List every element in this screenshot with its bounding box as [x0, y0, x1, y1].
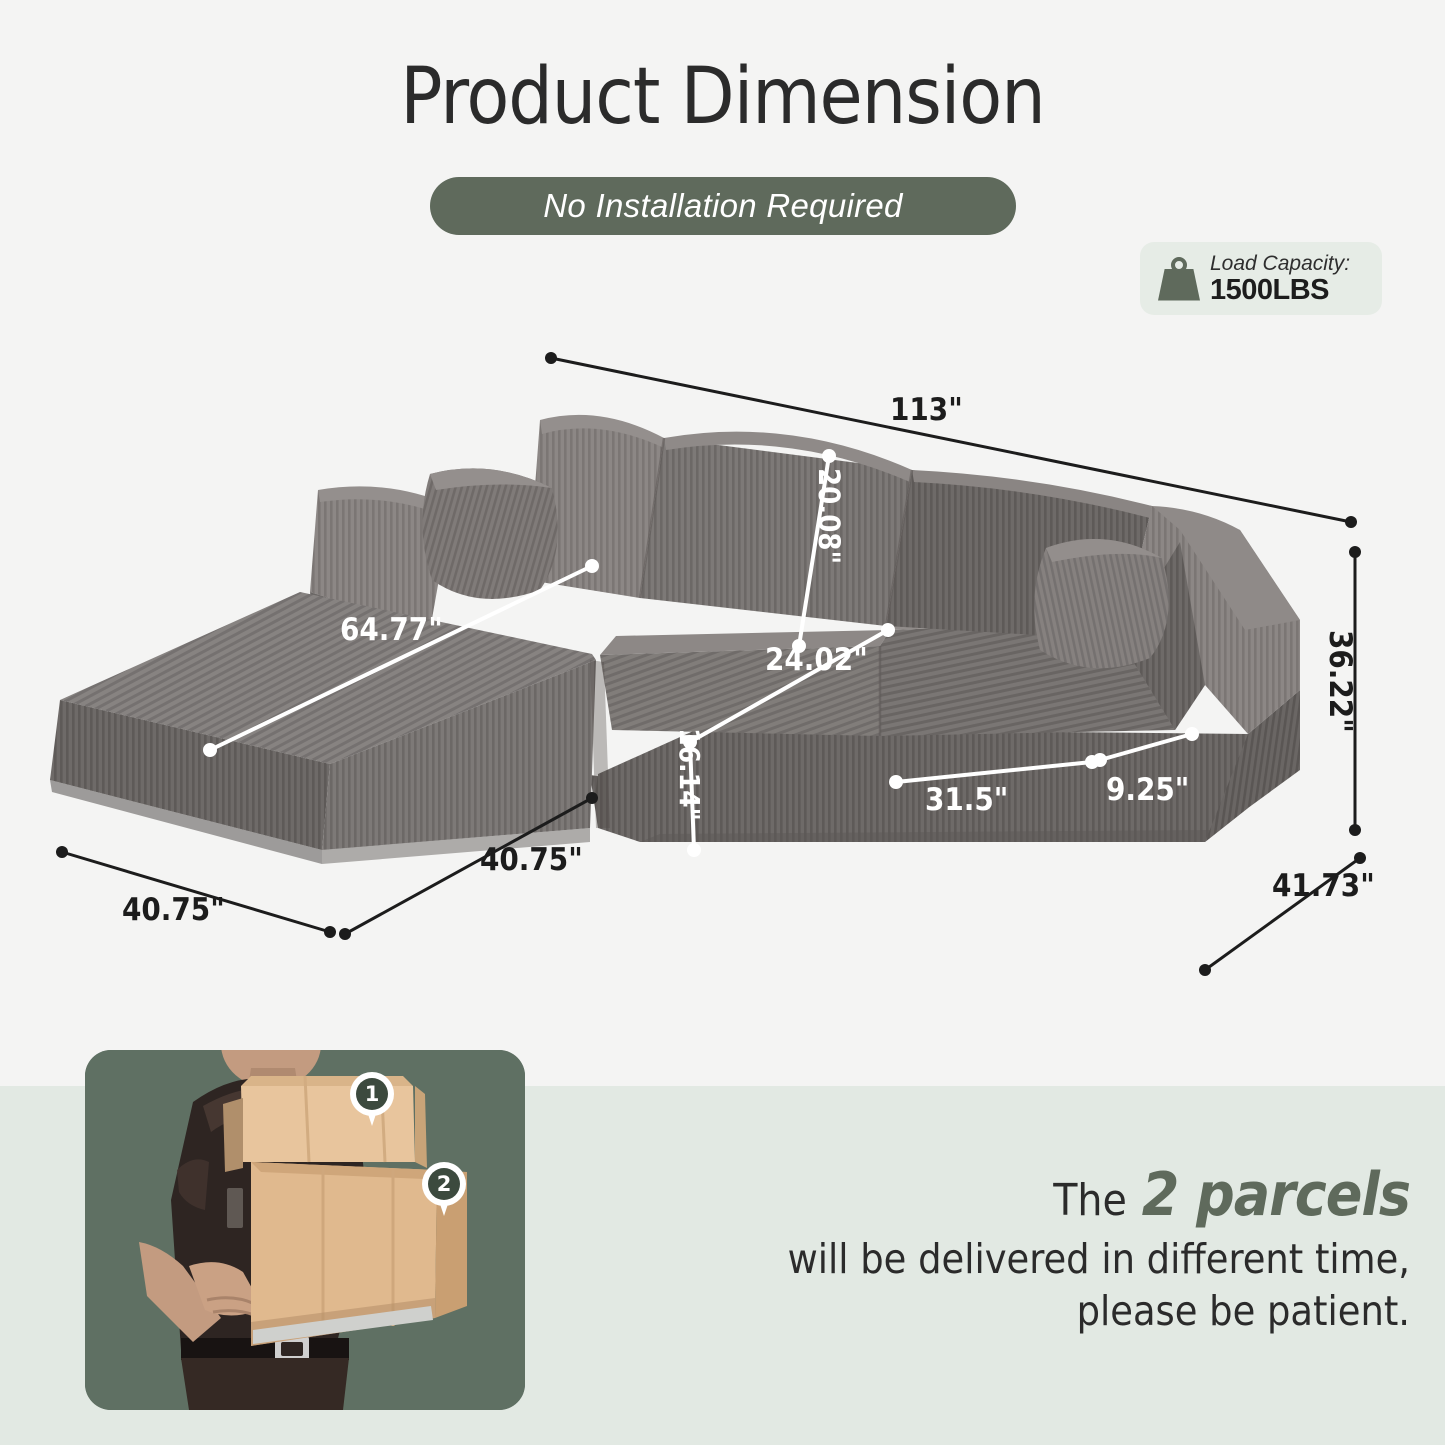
weight-icon — [1156, 255, 1202, 303]
dimension-section: Product Dimension No Installation Requir… — [0, 0, 1445, 1086]
delivery-section: 1 2 The 2 parcels will be delivered in d… — [0, 1086, 1445, 1445]
parcel-pin-2-label: 2 — [428, 1168, 460, 1200]
parcel-pin-1-label: 1 — [356, 1078, 388, 1110]
delivery-line2: will be delivered in different time, — [620, 1233, 1410, 1285]
dim-label-chaise-depth-side: 40.75" — [480, 842, 583, 878]
dim-label-overall-height: 36.22" — [1322, 630, 1358, 733]
load-capacity-label: Load Capacity: — [1210, 253, 1350, 274]
delivery-photo: 1 2 — [85, 1050, 525, 1410]
delivery-line1-prefix: The — [1053, 1175, 1127, 1226]
load-capacity-value: 1500LBS — [1210, 276, 1350, 305]
load-capacity-badge: Load Capacity: 1500LBS — [1140, 242, 1382, 315]
dim-label-seat-height: 16.14" — [673, 728, 706, 821]
delivery-parcel-count: 2 parcels — [1142, 1160, 1410, 1230]
dim-label-arm-width: 9.25" — [1106, 772, 1189, 808]
product-dimension-infographic: Product Dimension No Installation Requir… — [0, 0, 1445, 1445]
delivery-photo-illustration — [85, 1050, 525, 1410]
dim-label-overall-width: 113" — [890, 392, 963, 428]
parcel-pin-2: 2 — [422, 1162, 466, 1218]
dim-label-seat-width: 31.5" — [925, 782, 1008, 818]
page-title: Product Dimension — [0, 52, 1445, 142]
delivery-line3: please be patient. — [620, 1285, 1410, 1337]
parcel-pin-1: 1 — [350, 1072, 394, 1128]
dim-label-chaise-depth-front: 40.75" — [122, 892, 225, 928]
dim-label-chaise-length: 64.77" — [340, 612, 443, 648]
dim-label-backrest-height: 20.08" — [812, 468, 846, 564]
no-installation-badge: No Installation Required — [430, 177, 1016, 235]
delivery-copy: The 2 parcels will be delivered in diffe… — [620, 1164, 1410, 1338]
dim-label-seat-depth: 24.02" — [765, 642, 868, 678]
sofa-illustration: 113" 36.22" 41.73" 40.75" 40.75" 64.77" … — [0, 330, 1445, 1010]
dim-label-overall-depth-right: 41.73" — [1272, 868, 1375, 904]
no-installation-badge-label: No Installation Required — [543, 187, 902, 225]
